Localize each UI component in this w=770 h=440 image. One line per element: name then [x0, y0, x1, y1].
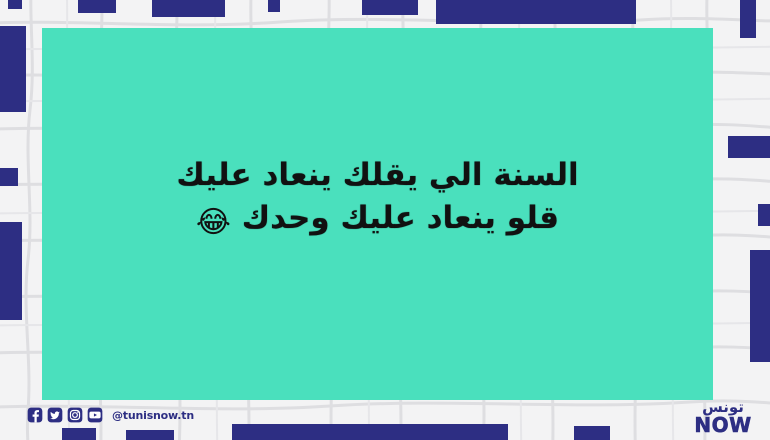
deco-rect-top-6 — [436, 0, 636, 24]
instagram-icon[interactable] — [67, 407, 83, 423]
arabic-text-line-1: السنة الي يقلك ينعاد عليك — [176, 154, 578, 197]
teal-content-card: السنة الي يقلك ينعاد عليك قلو ينعاد عليك… — [42, 28, 713, 400]
youtube-icon[interactable] — [87, 407, 103, 423]
deco-rect-right-3 — [750, 250, 770, 362]
deco-rect-bot-3 — [232, 424, 508, 440]
deco-rect-top-5 — [362, 0, 418, 15]
arabic-text-line-2-wrapper: قلو ينعاد عليك وحدك 😂 — [176, 197, 578, 243]
arabic-joke-text: السنة الي يقلك ينعاد عليك قلو ينعاد عليك… — [158, 154, 596, 243]
deco-rect-bot-2 — [126, 430, 174, 440]
social-handle: @tunisnow.tn — [112, 409, 194, 422]
deco-rect-left-3 — [0, 168, 18, 186]
deco-rect-bot-1 — [62, 428, 96, 440]
face-with-tears-of-joy-icon: 😂 — [196, 205, 231, 240]
twitter-icon[interactable] — [47, 407, 63, 423]
facebook-icon[interactable] — [27, 407, 43, 423]
footer-social-bar: @tunisnow.tn — [27, 405, 194, 425]
deco-rect-left-2 — [0, 46, 10, 112]
social-media-post-canvas: السنة الي يقلك ينعاد عليك قلو ينعاد عليك… — [0, 0, 770, 440]
brand-latin-text: NOW — [686, 416, 760, 435]
deco-rect-top-2 — [78, 0, 116, 13]
deco-rect-left-4 — [0, 222, 22, 320]
arabic-text-line-2: قلو ينعاد عليك وحدك — [242, 200, 559, 236]
deco-rect-right-2 — [758, 204, 770, 226]
deco-rect-top-7 — [740, 0, 756, 38]
deco-rect-right-1 — [728, 136, 770, 158]
deco-rect-top-3 — [152, 0, 225, 17]
deco-rect-top-1 — [8, 0, 22, 9]
brand-logo: تونس NOW — [686, 400, 760, 436]
deco-rect-bot-4 — [574, 426, 610, 440]
deco-rect-top-4 — [268, 0, 280, 12]
